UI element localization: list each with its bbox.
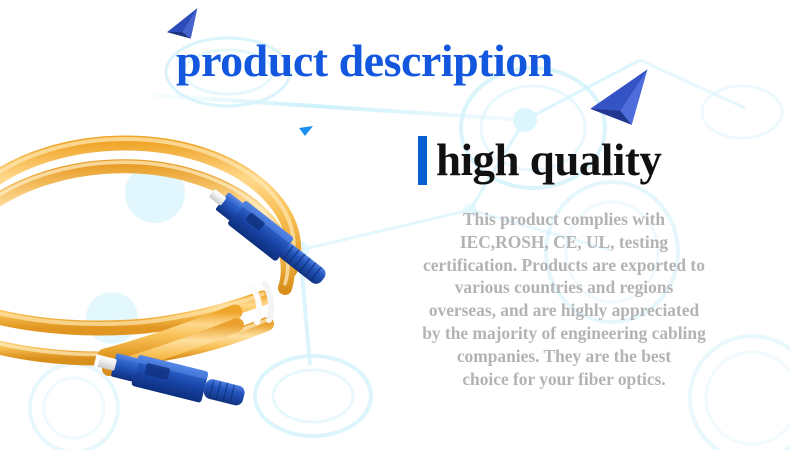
description-line: IEC,ROSH, CE, UL, testing xyxy=(390,231,738,254)
description-line: This product complies with xyxy=(390,208,738,231)
accent-bar xyxy=(418,136,427,185)
subheading-block: high quality xyxy=(418,136,661,185)
subheading-text: high quality xyxy=(436,138,661,183)
description-line: by the majority of engineering cabling xyxy=(390,322,738,345)
paper-plane-icon xyxy=(586,69,655,130)
description-line: certification. Products are exported to xyxy=(390,254,738,277)
page-title: product description xyxy=(176,38,553,84)
description-line: choice for your fiber optics. xyxy=(390,368,738,391)
description-paragraph: This product complies with IEC,ROSH, CE,… xyxy=(390,208,738,390)
fiber-optic-patch-cord-photo xyxy=(0,120,415,420)
description-line: overseas, and are highly appreciated xyxy=(390,299,738,322)
description-line: companies. They are the best xyxy=(390,345,738,368)
product-description-banner: product description high quality This pr… xyxy=(0,0,790,450)
description-line: various countries and regions xyxy=(390,276,738,299)
